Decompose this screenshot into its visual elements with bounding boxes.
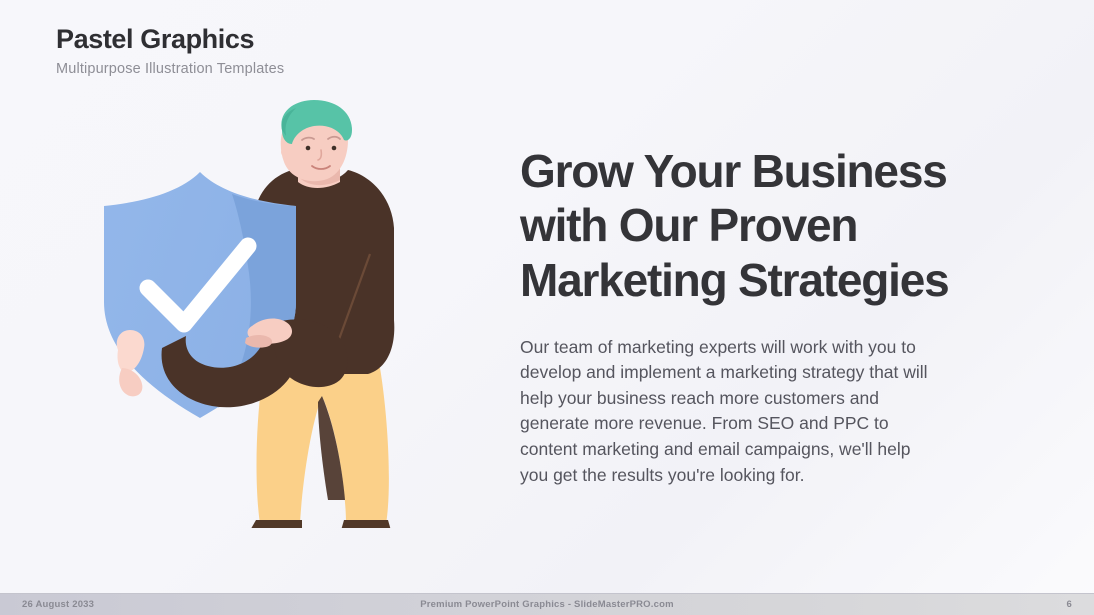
slide-canvas: Pastel Graphics Multipurpose Illustratio…	[0, 0, 1094, 615]
illustration-trousers	[257, 368, 389, 524]
footer-credit: Premium PowerPoint Graphics - SlideMaste…	[0, 599, 1094, 610]
illustration-person-holding-shield	[96, 96, 436, 528]
page-subtitle: Multipurpose Illustration Templates	[56, 61, 284, 77]
headline-line: Marketing Strategies	[520, 253, 1040, 307]
body-line: Our team of marketing experts will work …	[520, 335, 1035, 361]
body-line: develop and implement a marketing strate…	[520, 360, 1035, 386]
headline-line: with Our Proven	[520, 198, 1040, 252]
slide-footer: 26 August 2033 Premium PowerPoint Graphi…	[0, 593, 1094, 615]
illustration-shoes	[248, 520, 392, 528]
body-line: content marketing and email campaigns, w…	[520, 437, 1035, 463]
text-column: Grow Your Business with Our Proven Marke…	[520, 144, 1040, 488]
body-line: you get the results you're looking for.	[520, 463, 1035, 489]
body-line: generate more revenue. From SEO and PPC …	[520, 411, 1035, 437]
page-title: Pastel Graphics	[56, 25, 284, 55]
headline: Grow Your Business with Our Proven Marke…	[520, 144, 1040, 307]
headline-line: Grow Your Business	[520, 144, 1040, 198]
brand-block: Pastel Graphics Multipurpose Illustratio…	[56, 25, 284, 77]
body-line: help your business reach more customers …	[520, 386, 1035, 412]
body-paragraph: Our team of marketing experts will work …	[520, 335, 1035, 488]
footer-page-number: 6	[1067, 599, 1072, 610]
